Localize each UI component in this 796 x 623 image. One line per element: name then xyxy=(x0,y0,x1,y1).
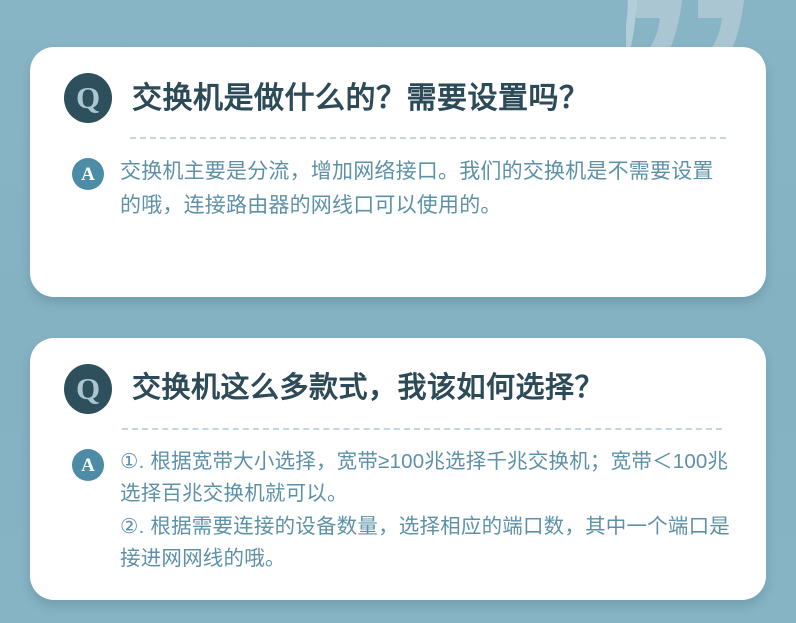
question-title: 交换机是做什么的？需要设置吗？ xyxy=(132,82,590,115)
card-divider xyxy=(130,137,726,139)
faq-card: Q 交换机这么多款式，我该如何选择？ A ①. 根据宽带大小选择，宽带≥100兆… xyxy=(30,338,766,600)
answer-row: A 交换机主要是分流，增加网络接口。我们的交换机是不需要设置的哦，连接路由器的网… xyxy=(64,155,732,223)
faq-card-list: Q 交换机是做什么的？需要设置吗？ A 交换机主要是分流，增加网络接口。我们的交… xyxy=(30,47,766,600)
answer-paragraph: ②. 根据需要连接的设备数量，选择相应的端口数，其中一个端口是接进网网线的哦。 xyxy=(120,511,732,576)
question-badge: Q xyxy=(64,364,112,414)
answer-badge: A xyxy=(72,449,104,481)
card-divider xyxy=(122,428,722,430)
question-badge: Q xyxy=(64,73,112,123)
answer-text: ①. 根据宽带大小选择，宽带≥100兆选择千兆交换机；宽带＜100兆选择百兆交换… xyxy=(120,446,732,576)
question-row: Q 交换机这么多款式，我该如何选择？ xyxy=(64,364,732,414)
answer-paragraph: ①. 根据宽带大小选择，宽带≥100兆选择千兆交换机；宽带＜100兆选择百兆交换… xyxy=(120,446,732,511)
answer-paragraph: 交换机主要是分流，增加网络接口。我们的交换机是不需要设置的哦，连接路由器的网线口… xyxy=(120,155,732,223)
answer-badge: A xyxy=(72,158,104,190)
answer-text: 交换机主要是分流，增加网络接口。我们的交换机是不需要设置的哦，连接路由器的网线口… xyxy=(120,155,732,223)
question-row: Q 交换机是做什么的？需要设置吗？ xyxy=(64,73,732,123)
question-title: 交换机这么多款式，我该如何选择？ xyxy=(132,373,604,405)
answer-row: A ①. 根据宽带大小选择，宽带≥100兆选择千兆交换机；宽带＜100兆选择百兆… xyxy=(64,446,732,576)
faq-page: Q 交换机是做什么的？需要设置吗？ A 交换机主要是分流，增加网络接口。我们的交… xyxy=(0,0,796,623)
faq-card: Q 交换机是做什么的？需要设置吗？ A 交换机主要是分流，增加网络接口。我们的交… xyxy=(30,47,766,297)
